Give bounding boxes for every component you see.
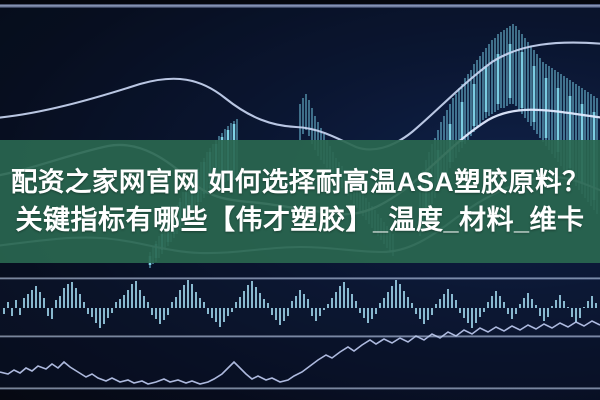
panel-separator-2 (0, 335, 600, 338)
panel-separator-top (0, 4, 600, 8)
panel-separator-3 (0, 387, 600, 390)
panel-separator-1 (0, 277, 600, 280)
title-line-1: 配资之家网官网 如何选择耐高温ASA塑胶原料？ (11, 164, 589, 201)
title-banner: 配资之家网官网 如何选择耐高温ASA塑胶原料？ 关键指标有哪些【伟才塑胶】_温度… (0, 140, 600, 263)
title-line-2: 关键指标有哪些【伟才塑胶】_温度_材料_维卡 (15, 202, 584, 239)
thumbnail-canvas: 配资之家网官网 如何选择耐高温ASA塑胶原料？ 关键指标有哪些【伟才塑胶】_温度… (0, 0, 600, 400)
